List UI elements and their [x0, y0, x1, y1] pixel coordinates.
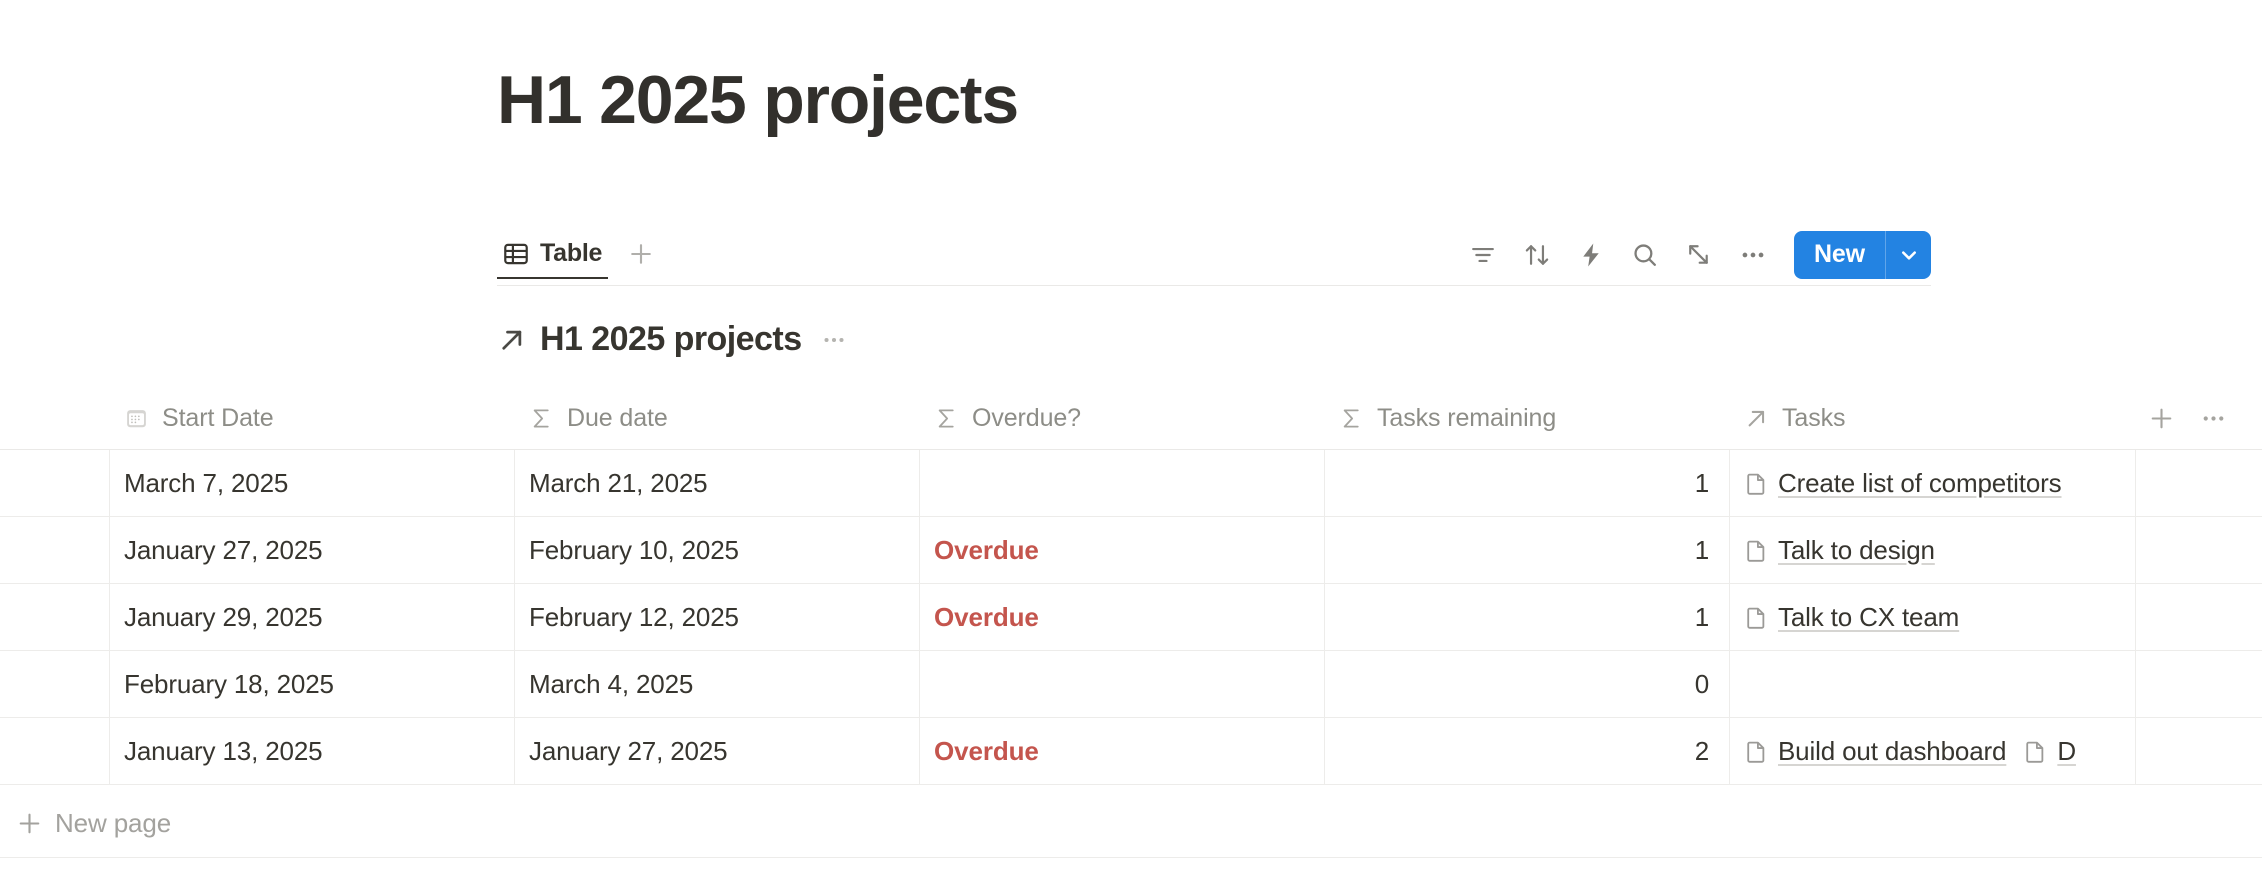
cell-due-date[interactable]: January 27, 2025 — [515, 718, 920, 784]
database-title-row: H1 2025 projects — [497, 320, 853, 359]
calendar-icon — [124, 406, 149, 431]
page-icon — [1744, 471, 1769, 496]
task-relation-item[interactable]: Talk to design — [1744, 535, 1935, 566]
cell-tasks[interactable]: Create list of competitors — [1730, 450, 2136, 516]
task-name: Talk to design — [1778, 535, 1935, 566]
automation-icon — [1577, 241, 1605, 269]
formula-icon — [934, 406, 959, 431]
row-gutter — [0, 651, 110, 717]
page-icon — [1744, 538, 1769, 563]
new-button[interactable]: New — [1794, 231, 1885, 279]
table-row[interactable]: January 29, 2025 February 12, 2025 Overd… — [0, 584, 2262, 651]
table-header-row: Start Date Due date Overdue? — [0, 388, 2262, 450]
database-title[interactable]: H1 2025 projects — [540, 320, 802, 359]
cell-tasks-remaining[interactable]: 1 — [1325, 584, 1730, 650]
column-header-overdue[interactable]: Overdue? — [920, 388, 1325, 449]
cell-start-date[interactable]: March 7, 2025 — [110, 450, 515, 516]
column-header-label: Overdue? — [972, 404, 1081, 433]
automation-button[interactable] — [1564, 231, 1618, 279]
cell-empty — [2136, 517, 2262, 583]
cell-start-date[interactable]: February 18, 2025 — [110, 651, 515, 717]
cell-tasks-remaining[interactable]: 0 — [1325, 651, 1730, 717]
cell-due-date[interactable]: March 4, 2025 — [515, 651, 920, 717]
formula-icon — [1339, 406, 1364, 431]
add-view-button[interactable] — [622, 235, 660, 273]
row-gutter — [0, 517, 110, 583]
cell-start-date[interactable]: January 13, 2025 — [110, 718, 515, 784]
new-page-label: New page — [55, 808, 171, 839]
table-header-controls — [2138, 396, 2262, 442]
new-button-group: New — [1794, 231, 1931, 279]
cell-overdue[interactable] — [920, 651, 1325, 717]
cell-tasks-remaining[interactable]: 1 — [1325, 450, 1730, 516]
chevron-down-icon — [1897, 243, 1921, 267]
view-tabs: Table — [497, 235, 660, 279]
row-gutter-header — [0, 388, 110, 449]
row-gutter — [0, 584, 110, 650]
notion-database-page: H1 2025 projects Table — [0, 0, 2262, 886]
cell-due-date[interactable]: February 12, 2025 — [515, 584, 920, 650]
task-name: Create list of competitors — [1778, 468, 2062, 499]
task-name: Build out dashboard — [1778, 736, 2006, 767]
cell-empty — [2136, 718, 2262, 784]
view-tools: New — [1456, 231, 1931, 283]
page-title[interactable]: H1 2025 projects — [497, 62, 1018, 138]
overdue-value: Overdue — [934, 602, 1039, 633]
more-icon — [1739, 241, 1767, 269]
page-icon — [1744, 739, 1769, 764]
search-icon — [1631, 241, 1659, 269]
column-options-button[interactable] — [2190, 396, 2236, 442]
column-header-label: Tasks remaining — [1377, 404, 1556, 433]
cell-overdue[interactable]: Overdue — [920, 517, 1325, 583]
cell-start-date[interactable]: January 29, 2025 — [110, 584, 515, 650]
arrow-up-right-icon — [497, 325, 527, 355]
filter-button[interactable] — [1456, 231, 1510, 279]
database-more-button[interactable] — [815, 323, 853, 357]
page-icon — [1744, 605, 1769, 630]
task-name: D — [2057, 736, 2076, 767]
new-button-dropdown[interactable] — [1886, 231, 1931, 279]
add-column-button[interactable] — [2138, 396, 2184, 442]
column-header-start-date[interactable]: Start Date — [110, 388, 515, 449]
tab-table-label: Table — [540, 239, 602, 268]
cell-due-date[interactable]: February 10, 2025 — [515, 517, 920, 583]
table-row[interactable]: January 27, 2025 February 10, 2025 Overd… — [0, 517, 2262, 584]
sort-button[interactable] — [1510, 231, 1564, 279]
task-relation-item[interactable]: Talk to CX team — [1744, 602, 1959, 633]
table-row[interactable]: February 18, 2025 March 4, 2025 0 — [0, 651, 2262, 718]
column-header-label: Due date — [567, 404, 668, 433]
tab-table[interactable]: Table — [497, 235, 608, 278]
task-relation-item[interactable]: Build out dashboard — [1744, 736, 2006, 767]
cell-due-date[interactable]: March 21, 2025 — [515, 450, 920, 516]
column-header-due-date[interactable]: Due date — [515, 388, 920, 449]
sort-icon — [1523, 241, 1551, 269]
task-relation-item[interactable]: D — [2023, 736, 2076, 767]
database-table: Start Date Due date Overdue? — [0, 388, 2262, 785]
cell-empty — [2136, 450, 2262, 516]
cell-tasks[interactable]: Talk to CX team — [1730, 584, 2136, 650]
cell-empty — [2136, 651, 2262, 717]
cell-overdue[interactable]: Overdue — [920, 718, 1325, 784]
cell-empty — [2136, 584, 2262, 650]
relation-icon — [1744, 406, 1769, 431]
column-header-label: Tasks — [1782, 404, 1845, 433]
cell-tasks-remaining[interactable]: 1 — [1325, 517, 1730, 583]
cell-tasks-remaining[interactable]: 2 — [1325, 718, 1730, 784]
page-icon — [2023, 739, 2048, 764]
plus-icon — [16, 810, 43, 837]
task-name: Talk to CX team — [1778, 602, 1959, 633]
overdue-value: Overdue — [934, 736, 1039, 767]
table-icon — [503, 241, 529, 267]
view-toolbar: Table — [497, 228, 1931, 286]
cell-overdue[interactable]: Overdue — [920, 584, 1325, 650]
row-gutter — [0, 718, 110, 784]
cell-tasks[interactable] — [1730, 651, 2136, 717]
column-header-tasks[interactable]: Tasks — [1730, 388, 2136, 449]
plus-icon — [628, 241, 654, 267]
overdue-value: Overdue — [934, 535, 1039, 566]
formula-icon — [529, 406, 554, 431]
new-page-button[interactable]: New page — [0, 790, 2262, 858]
cell-tasks[interactable]: Talk to design — [1730, 517, 2136, 583]
more-options-button[interactable] — [1726, 231, 1780, 279]
table-row[interactable]: March 7, 2025 March 21, 2025 1 Create li… — [0, 450, 2262, 517]
task-relation-item[interactable]: Create list of competitors — [1744, 468, 2062, 499]
expand-icon — [1685, 241, 1713, 269]
cell-tasks[interactable]: Build out dashboard D — [1730, 718, 2136, 784]
table-row[interactable]: January 13, 2025 January 27, 2025 Overdu… — [0, 718, 2262, 785]
column-header-tasks-remaining[interactable]: Tasks remaining — [1325, 388, 1730, 449]
search-button[interactable] — [1618, 231, 1672, 279]
cell-overdue[interactable] — [920, 450, 1325, 516]
filter-icon — [1469, 241, 1497, 269]
row-gutter — [0, 450, 110, 516]
column-header-label: Start Date — [162, 404, 274, 433]
cell-start-date[interactable]: January 27, 2025 — [110, 517, 515, 583]
expand-button[interactable] — [1672, 231, 1726, 279]
